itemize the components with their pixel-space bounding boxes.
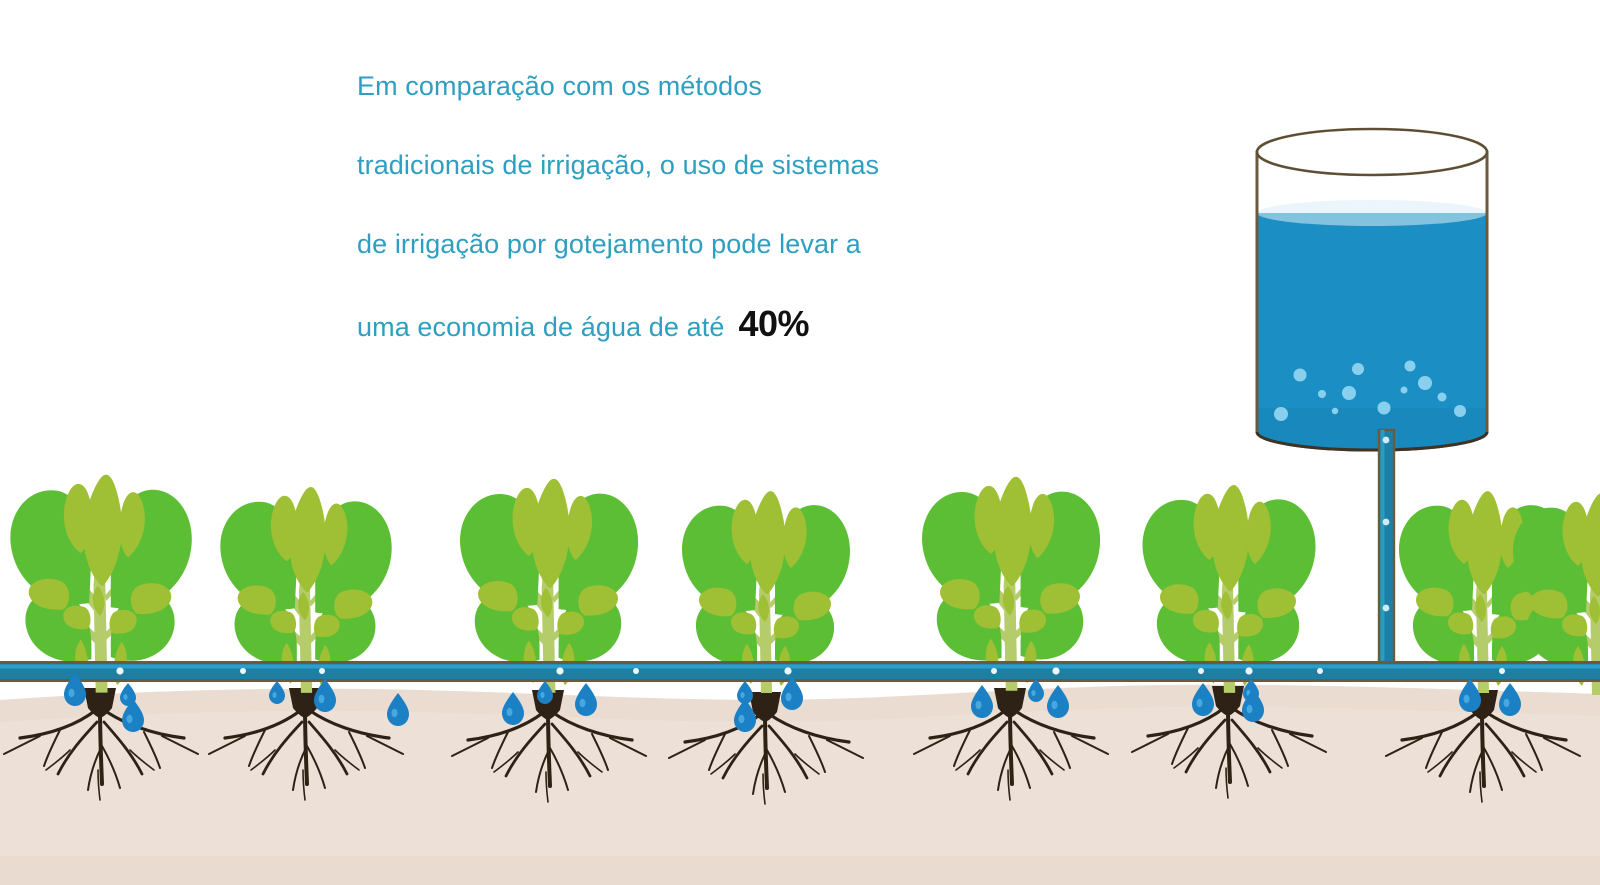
main-drip-pipe xyxy=(0,661,1600,682)
plant-1 xyxy=(10,475,191,693)
infographic-canvas: Em comparação com os métodos tradicionai… xyxy=(0,0,1600,885)
savings-percentage: 40% xyxy=(738,303,809,344)
caption-line-4: uma economia de água de até40% xyxy=(357,284,1057,363)
caption-line-1: Em comparação com os métodos xyxy=(357,47,1057,126)
caption-line-3: de irrigação por gotejamento pode levar … xyxy=(357,205,1057,284)
plant-3 xyxy=(460,479,638,693)
plant-5 xyxy=(922,477,1100,691)
caption-line-2: tradicionais de irrigação, o uso de sist… xyxy=(357,126,1057,205)
water-tank xyxy=(1257,129,1487,450)
vertical-drop-pipe xyxy=(1379,430,1394,672)
ground-soil xyxy=(0,685,1600,885)
caption-line-4-text: uma economia de água de até xyxy=(357,312,724,342)
caption-block: Em comparação com os métodos tradicionai… xyxy=(357,47,1057,363)
